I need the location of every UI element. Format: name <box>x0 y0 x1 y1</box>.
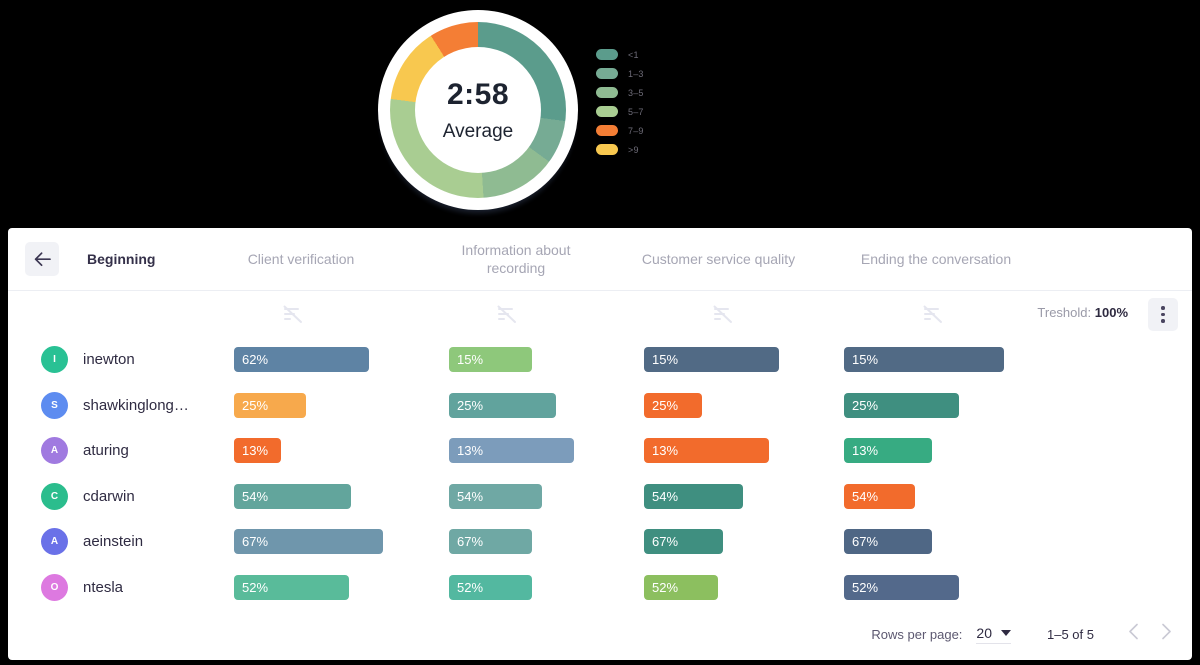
sort-disabled-icon <box>281 302 305 326</box>
donut-value: 2:58 <box>447 80 509 110</box>
score-bar[interactable]: 25% <box>844 393 959 418</box>
score-bar-value: 25% <box>457 398 483 413</box>
chevron-down-icon <box>1001 630 1011 636</box>
score-bar-value: 62% <box>242 352 268 367</box>
column-header-label: Information about recording <box>445 242 587 277</box>
column-header-2[interactable]: Client verification <box>226 228 376 291</box>
next-page-button[interactable] <box>1161 623 1172 645</box>
column-header-5[interactable]: Ending the conversation <box>836 228 1036 291</box>
average-duration-chart: 2:58 Average <11–33–55–77–9>9 <box>0 0 1200 225</box>
legend-swatch-icon <box>596 125 618 136</box>
score-bar-value: 15% <box>652 352 678 367</box>
score-bar[interactable]: 67% <box>234 529 383 554</box>
legend-item[interactable]: 1–3 <box>596 67 644 80</box>
score-bar-value: 15% <box>457 352 483 367</box>
avatar: C <box>41 483 68 510</box>
legend-label: 7–9 <box>628 126 644 136</box>
avatar: A <box>41 437 68 464</box>
score-bar-value: 13% <box>852 443 878 458</box>
column-header-label: Ending the conversation <box>861 251 1011 269</box>
score-bar-value: 15% <box>852 352 878 367</box>
score-bar-value: 52% <box>457 580 483 595</box>
score-bar-value: 54% <box>457 489 483 504</box>
score-bar[interactable]: 52% <box>644 575 718 600</box>
more-options-button[interactable] <box>1148 298 1178 331</box>
score-bar[interactable]: 52% <box>449 575 532 600</box>
score-bar[interactable]: 25% <box>449 393 556 418</box>
score-bar[interactable]: 54% <box>844 484 915 509</box>
score-bar[interactable]: 54% <box>449 484 542 509</box>
table-filter-row: Treshold: 100% <box>8 291 1192 337</box>
column-header-3[interactable]: Information about recording <box>441 228 591 291</box>
table-row[interactable]: Ccdarwin54%54%54%54% <box>8 474 1192 520</box>
table-row[interactable]: Ontesla52%52%52%52% <box>8 565 1192 611</box>
legend-item[interactable]: <1 <box>596 48 644 61</box>
column-header-1[interactable]: Beginning <box>83 228 223 291</box>
score-bar[interactable]: 25% <box>234 393 306 418</box>
score-bar[interactable]: 67% <box>644 529 723 554</box>
legend-swatch-icon <box>596 144 618 155</box>
column-header-label: Beginning <box>87 251 155 269</box>
column-header-4[interactable]: Customer service quality <box>636 228 801 291</box>
more-vertical-icon-dot <box>1161 313 1165 317</box>
score-bar-value: 54% <box>652 489 678 504</box>
avatar-initial: C <box>51 491 58 502</box>
pagination-range: 1–5 of 5 <box>1047 627 1094 642</box>
score-bar-value: 13% <box>652 443 678 458</box>
avatar-initial: O <box>51 582 59 593</box>
score-bar[interactable]: 13% <box>844 438 932 463</box>
score-bar[interactable]: 15% <box>844 347 1004 372</box>
score-bar[interactable]: 52% <box>234 575 349 600</box>
previous-page-button[interactable] <box>1128 623 1139 645</box>
avatar: O <box>41 574 68 601</box>
avatar-initial: A <box>51 445 58 456</box>
avatar: S <box>41 392 68 419</box>
score-bar[interactable]: 52% <box>844 575 959 600</box>
sort-disabled-icon <box>495 302 519 326</box>
username-label: ntesla <box>83 565 123 611</box>
score-bar[interactable]: 25% <box>644 393 702 418</box>
threshold-value: 100% <box>1095 305 1128 320</box>
legend-swatch-icon <box>596 106 618 117</box>
score-bar[interactable]: 54% <box>644 484 743 509</box>
score-bar-value: 52% <box>852 580 878 595</box>
score-bar-value: 67% <box>457 534 483 549</box>
rows-per-page-label: Rows per page: <box>871 627 962 642</box>
score-bar-value: 13% <box>242 443 268 458</box>
legend-label: 1–3 <box>628 69 644 79</box>
chevron-left-icon <box>1128 623 1139 640</box>
legend-label: 3–5 <box>628 88 644 98</box>
avatar-initial: S <box>51 400 58 411</box>
threshold-indicator: Treshold: 100% <box>1037 305 1128 320</box>
score-bar-value: 67% <box>652 534 678 549</box>
username-label: cdarwin <box>83 474 135 520</box>
legend-item[interactable]: 5–7 <box>596 105 644 118</box>
donut-legend: <11–33–55–77–9>9 <box>596 48 644 156</box>
avatar: A <box>41 528 68 555</box>
score-bar-value: 13% <box>457 443 483 458</box>
pagination-controls <box>1128 623 1172 645</box>
legend-item[interactable]: >9 <box>596 143 644 156</box>
sort-disabled-icon <box>921 302 945 326</box>
username-label: aeinstein <box>83 519 143 565</box>
column-header-label: Client verification <box>248 251 355 269</box>
score-bar[interactable]: 62% <box>234 347 369 372</box>
donut-label: Average <box>443 122 513 141</box>
table-row[interactable]: Aaturing13%13%13%13% <box>8 428 1192 474</box>
score-bar-value: 52% <box>652 580 678 595</box>
score-bar[interactable]: 54% <box>234 484 351 509</box>
score-bar[interactable]: 13% <box>644 438 769 463</box>
screen-root: 2:58 Average <11–33–55–77–9>9 BeginningC… <box>0 0 1200 665</box>
donut-center: 2:58 Average <box>415 47 541 173</box>
score-bar[interactable]: 15% <box>449 347 532 372</box>
back-button[interactable] <box>25 242 59 276</box>
legend-item[interactable]: 3–5 <box>596 86 644 99</box>
column-header-label: Customer service quality <box>642 251 795 269</box>
more-vertical-icon-dot <box>1161 306 1165 310</box>
table-footer: Rows per page: 20 1–5 of 5 <box>8 608 1192 660</box>
sort-disabled-icon <box>711 302 735 326</box>
donut-chart: 2:58 Average <box>373 5 583 215</box>
score-bar-value: 25% <box>852 398 878 413</box>
username-label: shawkinglong… <box>83 383 189 429</box>
sort-disabled-icon-button-4[interactable] <box>918 299 948 329</box>
arrow-left-icon <box>34 252 51 267</box>
legend-swatch-icon <box>596 49 618 60</box>
legend-item[interactable]: 7–9 <box>596 124 644 137</box>
threshold-label: Treshold: <box>1037 305 1091 320</box>
score-bar-value: 52% <box>242 580 268 595</box>
avatar: I <box>41 346 68 373</box>
score-bar-value: 67% <box>852 534 878 549</box>
score-bar-value: 54% <box>242 489 268 504</box>
legend-label: 5–7 <box>628 107 644 117</box>
sort-disabled-icon-button-1[interactable] <box>278 299 308 329</box>
more-vertical-icon-dot <box>1161 319 1165 323</box>
avatar-initial: I <box>53 354 56 365</box>
table-row[interactable]: Aaeinstein67%67%67%67% <box>8 519 1192 565</box>
table-row[interactable]: Iinewton62%15%15%15% <box>8 337 1192 383</box>
avatar-initial: A <box>51 536 58 547</box>
score-bar[interactable]: 15% <box>644 347 779 372</box>
score-bar[interactable]: 13% <box>449 438 574 463</box>
score-bar[interactable]: 13% <box>234 438 281 463</box>
legend-label: <1 <box>628 50 639 60</box>
sort-disabled-icon-button-2[interactable] <box>492 299 522 329</box>
score-bar-value: 25% <box>242 398 268 413</box>
table-row[interactable]: Sshawkinglong…25%25%25%25% <box>8 383 1192 429</box>
score-bar-value: 54% <box>852 489 878 504</box>
score-bar[interactable]: 67% <box>844 529 932 554</box>
score-bar[interactable]: 67% <box>449 529 532 554</box>
table-header: BeginningClient verificationInformation … <box>8 228 1192 291</box>
legend-swatch-icon <box>596 87 618 98</box>
legend-label: >9 <box>628 145 639 155</box>
chevron-right-icon <box>1161 623 1172 640</box>
scorecard-table: BeginningClient verificationInformation … <box>8 228 1192 660</box>
username-label: aturing <box>83 428 129 474</box>
legend-swatch-icon <box>596 68 618 79</box>
rows-per-page-value: 20 <box>976 625 992 641</box>
sort-disabled-icon-button-3[interactable] <box>708 299 738 329</box>
table-body: Iinewton62%15%15%15%Sshawkinglong…25%25%… <box>8 337 1192 610</box>
username-label: inewton <box>83 337 135 383</box>
score-bar-value: 67% <box>242 534 268 549</box>
rows-per-page-select[interactable]: 20 <box>976 625 1011 644</box>
score-bar-value: 25% <box>652 398 678 413</box>
